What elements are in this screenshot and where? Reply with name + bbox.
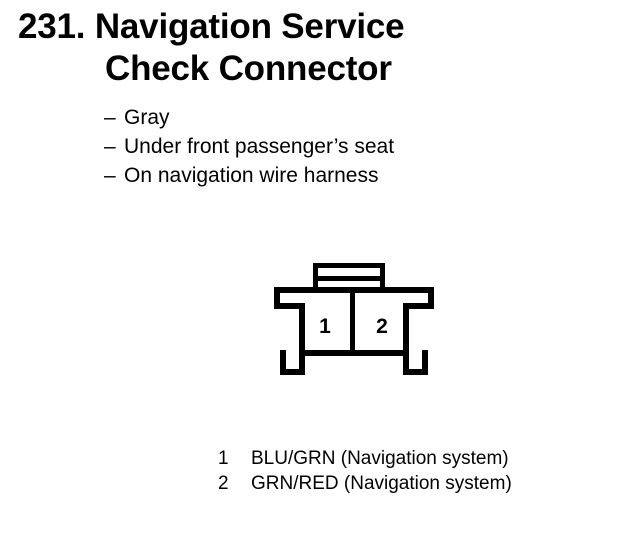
page-title-line-2: Check Connector [18,48,608,90]
spec-item-label: Gray [124,103,170,132]
spec-item-color: – Gray [104,103,394,132]
spec-item-label: On navigation wire harness [124,161,378,190]
dash-bullet-icon: – [104,132,124,161]
connector-spec-list: – Gray – Under front passenger’s seat – … [104,103,394,190]
spec-item-label: Under front passenger’s seat [124,132,394,161]
legend-pin-number: 2 [218,471,251,496]
page-title-line-1: 231. Navigation Service [18,6,608,48]
legend-row: 1 BLU/GRN (Navigation system) [218,446,512,471]
connector-body-shell [274,287,434,375]
connector-outline-drawing: 1 2 [255,245,465,385]
page-title: 231. Navigation Service Check Connector [18,6,608,90]
dash-bullet-icon: – [104,103,124,132]
pin-legend-table: 1 BLU/GRN (Navigation system) 2 GRN/RED … [218,446,512,496]
connector-locking-tab-icon [313,263,385,290]
connector-cavity-1-label: 1 [319,315,331,338]
spec-item-location: – Under front passenger’s seat [104,132,394,161]
legend-row: 2 GRN/RED (Navigation system) [218,471,512,496]
dash-bullet-icon: – [104,161,124,190]
legend-pin-label: BLU/GRN (Navigation system) [251,446,509,471]
connector-cavity-2-label: 2 [376,315,388,338]
legend-pin-label: GRN/RED (Navigation system) [251,471,512,496]
spec-item-harness: – On navigation wire harness [104,161,394,190]
connector-diagram: 1 2 [255,245,465,385]
legend-pin-number: 1 [218,446,251,471]
